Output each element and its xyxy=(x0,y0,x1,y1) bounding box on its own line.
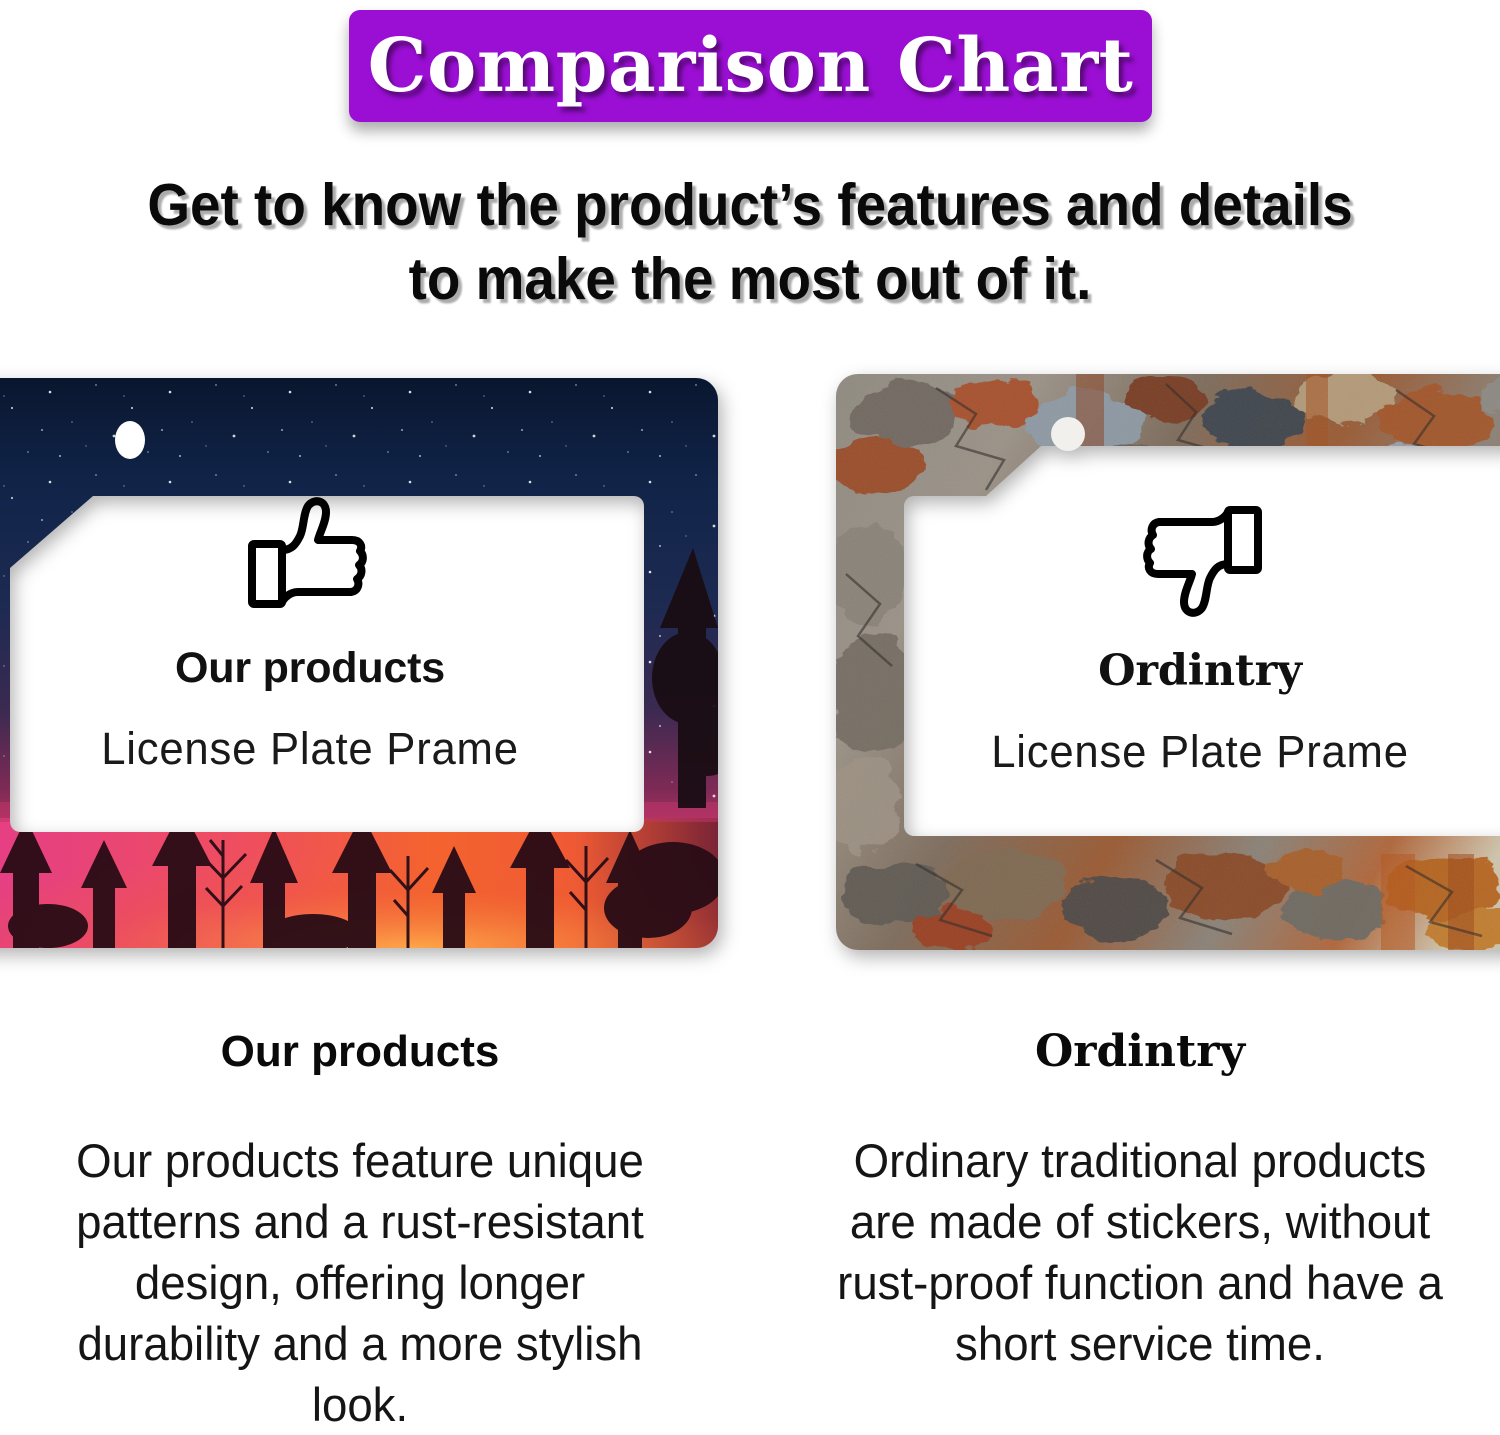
our-product-plate-title: Our products xyxy=(10,644,610,693)
page-title: Comparison Chart xyxy=(368,29,1134,103)
page-subtitle: Get to know the product’s features and d… xyxy=(146,168,1355,317)
ordintry-column-body: Ordinary traditional products are made o… xyxy=(801,1130,1480,1374)
ordintry-plate-content: Ordintry License Plate Prame xyxy=(900,498,1500,778)
our-product-license-plate-frame xyxy=(0,378,718,948)
ordintry-plate-title: Ordintry xyxy=(900,646,1500,696)
comparison-chart-title-banner: Comparison Chart xyxy=(349,10,1152,122)
our-product-plate-content: Our products License Plate Prame xyxy=(10,496,610,775)
ordintry-column-heading: Ordintry xyxy=(790,1030,1490,1074)
our-product-plate-subtitle: License Plate Prame xyxy=(19,723,601,775)
our-product-description-column: Our products Our products feature unique… xyxy=(10,1030,710,1435)
thumbs-down-icon xyxy=(1136,498,1264,618)
product-frames-area: Our products License Plate Prame xyxy=(0,0,1500,1000)
thumbs-up-icon xyxy=(246,496,374,616)
ordintry-license-plate-frame xyxy=(836,374,1500,950)
our-product-column-heading: Our products xyxy=(10,1030,710,1074)
our-product-column-body: Our products feature unique patterns and… xyxy=(21,1130,700,1435)
ordintry-description-column: Ordintry Ordinary traditional products a… xyxy=(790,1030,1490,1374)
ordintry-plate-subtitle: License Plate Prame xyxy=(909,726,1491,778)
